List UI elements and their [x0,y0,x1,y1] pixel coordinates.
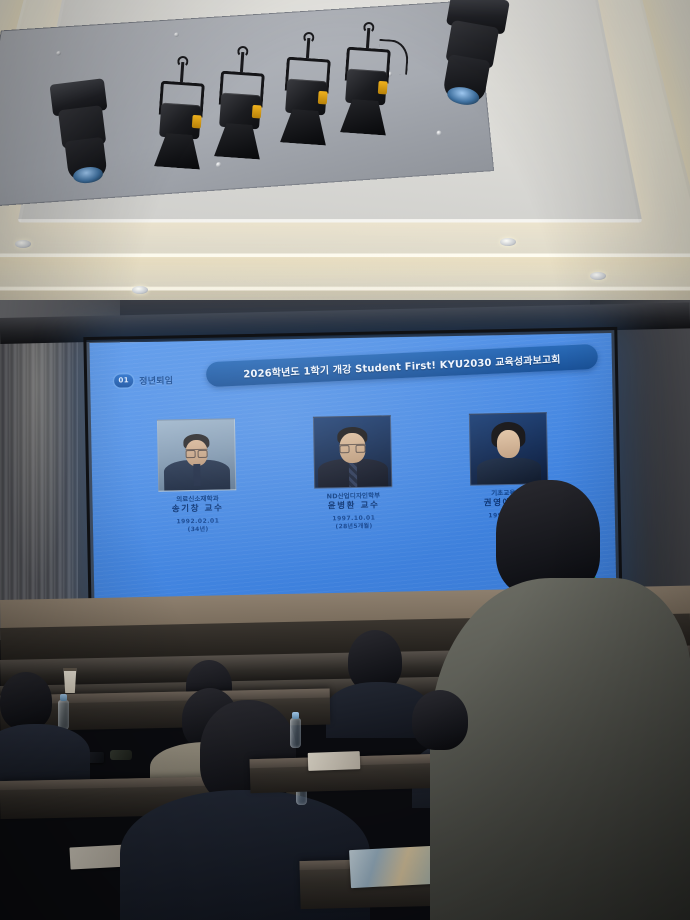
panel-screw [56,51,62,56]
honoree-tenure: (34년) [188,526,209,534]
light-knob [192,115,202,129]
portrait-necktie [349,463,357,489]
program-booklet [349,846,435,888]
light-knob [378,81,388,95]
stage-curtain [0,330,78,630]
slide-section-badge: 01 정년퇴임 [114,373,173,387]
fresnel-spotlight [209,66,271,162]
portrait-face [497,430,521,458]
badge-number: 01 [114,374,133,387]
honoree-name: 송기창 교수 [172,505,224,515]
portrait-glasses [186,449,208,455]
honoree-department: ND산업디자인학부 [327,492,381,500]
water-bottle [58,700,69,730]
water-bottle [290,718,301,748]
honoree-tenure: (28년5개월) [335,523,372,531]
auditorium-photo: 01 정년퇴임 2026학년도 1학기 개강 Student First! KY… [0,0,690,920]
honoree-portrait [313,415,392,488]
slide-title-banner: 2026학년도 1학기 개강 Student First! KYU2030 교육… [206,344,599,387]
honoree-card: ND산업디자인학부 윤병환 교수 1997.10.01 (28년5개월) [300,415,406,531]
fresnel-spotlight [275,52,337,148]
portrait-glasses [339,444,365,450]
panel-screw [174,32,179,37]
honoree-portrait [469,412,548,485]
recessed-downlight [132,286,148,294]
recessed-downlight [500,238,516,246]
audience-shoulders [0,724,90,784]
light-knob [252,105,262,119]
badge-label: 정년퇴임 [139,373,173,387]
portrait-necktie [193,464,200,486]
eyeglasses [110,750,132,760]
recessed-downlight [15,240,31,248]
honoree-card: 의료신소재학과 송기창 교수 1992.02.01 (34년) [144,418,250,534]
honoree-department: 의료신소재학과 [176,496,219,504]
foreground-person-body [430,578,690,920]
fresnel-spotlight [335,42,397,138]
light-knob [318,91,328,105]
panel-screw [436,130,441,135]
panel-screw [216,162,221,168]
slide-title: 2026학년도 1학기 개강 Student First! KYU2030 교육… [243,351,561,381]
program-booklet [308,751,361,771]
audience-head [0,672,52,730]
recessed-downlight [590,272,606,280]
audience-head [412,690,468,750]
honoree-name: 윤병환 교수 [328,502,380,512]
honoree-portrait [157,418,236,491]
fresnel-spotlight [149,76,211,172]
